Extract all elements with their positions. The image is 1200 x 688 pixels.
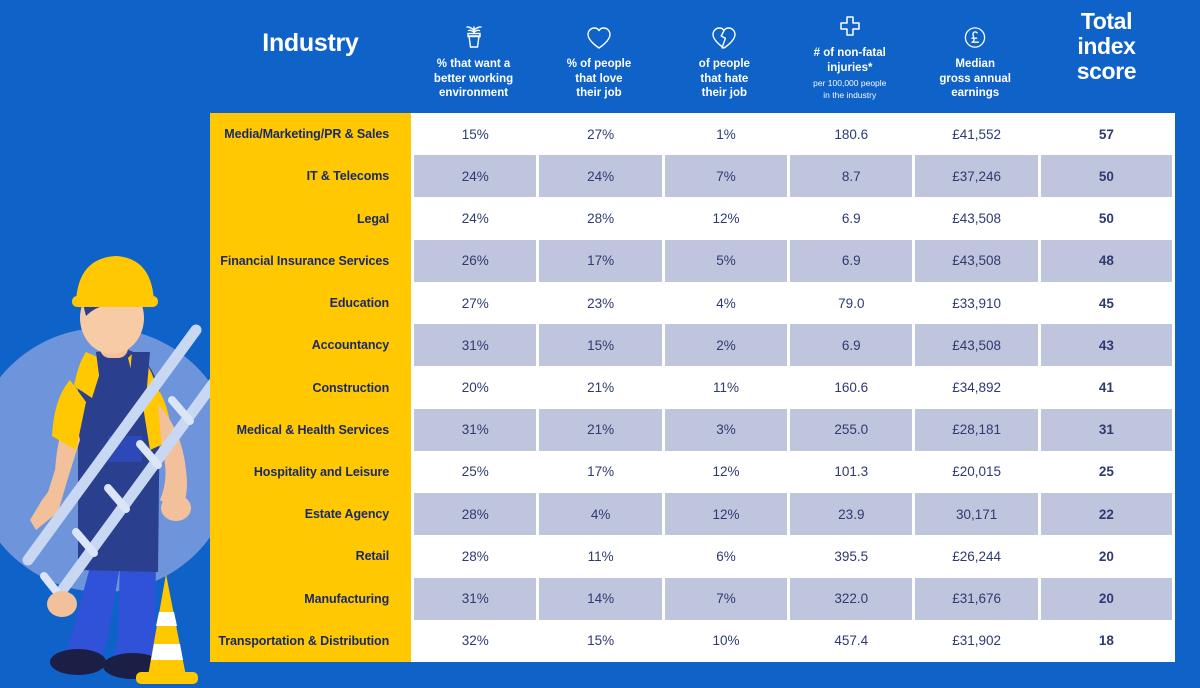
cell-better-env: 31%	[411, 324, 536, 366]
cell-total-index-score: 22	[1038, 493, 1175, 535]
header-sublabel-line1: per 100,000 people	[813, 78, 886, 89]
cell-earnings: £26,244	[912, 535, 1037, 577]
cell-hate: 10%	[662, 620, 787, 662]
cell-industry-name: Medical & Health Services	[210, 409, 411, 451]
cell-love: 21%	[536, 366, 661, 408]
cell-injuries: 79.0	[787, 282, 912, 324]
table-row: Financial Insurance Services26%17%5%6.9£…	[210, 240, 1175, 282]
header-label-line3: environment	[439, 86, 508, 101]
cell-love: 11%	[536, 535, 661, 577]
cell-injuries: 23.9	[787, 493, 912, 535]
cell-industry-name: Education	[210, 282, 411, 324]
header-cell-love-job: % of people that love their job	[536, 0, 661, 113]
header-cell-hate-job: of people that hate their job	[662, 0, 787, 113]
header-cell-non-fatal-injuries: # of non-fatal injuries* per 100,000 peo…	[787, 0, 912, 113]
cell-total-index-score: 31	[1038, 409, 1175, 451]
header-label-line2: that hate	[700, 72, 748, 87]
header-industry-label: Industry	[262, 30, 358, 58]
cell-total-index-score: 20	[1038, 578, 1175, 620]
potted-plant-icon	[461, 21, 487, 51]
pound-coin-icon	[962, 21, 988, 51]
cell-total-index-score: 45	[1038, 282, 1175, 324]
cell-better-env: 31%	[411, 409, 536, 451]
header-total-line3: score	[1077, 59, 1136, 84]
cell-total-index-score: 18	[1038, 620, 1175, 662]
cell-hate: 12%	[662, 493, 787, 535]
cell-hate: 3%	[662, 409, 787, 451]
cell-industry-name: Financial Insurance Services	[210, 240, 411, 282]
table-row: Construction20%21%11%160.6£34,89241	[210, 366, 1175, 408]
cell-earnings: £43,508	[912, 240, 1037, 282]
cell-love: 4%	[536, 493, 661, 535]
cell-earnings: £33,910	[912, 282, 1037, 324]
header-total-line1: Total	[1081, 9, 1132, 34]
cell-industry-name: IT & Telecoms	[210, 155, 411, 197]
cell-better-env: 26%	[411, 240, 536, 282]
table-row: Transportation & Distribution32%15%10%45…	[210, 620, 1175, 662]
cell-industry-name: Estate Agency	[210, 493, 411, 535]
cell-earnings: £34,892	[912, 366, 1037, 408]
construction-worker-illustration	[0, 0, 210, 688]
cell-love: 28%	[536, 197, 661, 239]
header-label-line1: % of people	[567, 57, 632, 72]
cell-injuries: 6.9	[787, 324, 912, 366]
table-row: IT & Telecoms24%24%7%8.7£37,24650	[210, 155, 1175, 197]
cell-injuries: 6.9	[787, 240, 912, 282]
cell-love: 15%	[536, 324, 661, 366]
cell-total-index-score: 50	[1038, 155, 1175, 197]
cell-hate: 7%	[662, 155, 787, 197]
cell-love: 24%	[536, 155, 661, 197]
cell-love: 23%	[536, 282, 661, 324]
cell-love: 27%	[536, 113, 661, 155]
table-row: Accountancy31%15%2%6.9£43,50843	[210, 324, 1175, 366]
cell-total-index-score: 25	[1038, 451, 1175, 493]
header-label-line3: their job	[702, 86, 747, 101]
header-label-line2: better working	[434, 72, 513, 87]
table-body: Media/Marketing/PR & Sales15%27%1%180.6£…	[210, 113, 1175, 662]
cell-industry-name: Construction	[210, 366, 411, 408]
cell-love: 15%	[536, 620, 661, 662]
cell-hate: 6%	[662, 535, 787, 577]
header-label-line1: # of non-fatal	[814, 46, 886, 61]
cell-injuries: 457.4	[787, 620, 912, 662]
header-label-line3: earnings	[951, 86, 999, 101]
table-row: Estate Agency28%4%12%23.930,17122	[210, 493, 1175, 535]
cell-better-env: 31%	[411, 578, 536, 620]
cell-earnings: £43,508	[912, 197, 1037, 239]
header-label-line3: their job	[576, 86, 621, 101]
cell-total-index-score: 57	[1038, 113, 1175, 155]
cell-earnings: £43,508	[912, 324, 1037, 366]
cell-better-env: 25%	[411, 451, 536, 493]
cell-earnings: £41,552	[912, 113, 1037, 155]
cell-industry-name: Transportation & Distribution	[210, 620, 411, 662]
header-label-line1: Median	[955, 57, 995, 72]
header-sublabel-line2: in the industry	[823, 90, 876, 101]
header-label-line2: gross annual	[939, 72, 1011, 87]
header-label-line2: that love	[575, 72, 622, 87]
cell-better-env: 28%	[411, 493, 536, 535]
table-row: Media/Marketing/PR & Sales15%27%1%180.6£…	[210, 113, 1175, 155]
header-label-line1: % that want a	[437, 57, 510, 72]
cell-hate: 4%	[662, 282, 787, 324]
header-cell-better-environment: % that want a better working environment	[411, 0, 536, 113]
header-label-line2: injuries*	[827, 61, 872, 76]
industry-index-table: Industry % that want a better w	[210, 0, 1175, 688]
cell-earnings: £37,246	[912, 155, 1037, 197]
table-row: Manufacturing31%14%7%322.0£31,67620	[210, 578, 1175, 620]
cell-hate: 11%	[662, 366, 787, 408]
cell-industry-name: Media/Marketing/PR & Sales	[210, 113, 411, 155]
cell-injuries: 395.5	[787, 535, 912, 577]
table-row: Medical & Health Services31%21%3%255.0£2…	[210, 409, 1175, 451]
table-header-row: Industry % that want a better w	[210, 0, 1175, 113]
cell-hate: 1%	[662, 113, 787, 155]
header-cell-industry: Industry	[210, 0, 411, 113]
cell-industry-name: Retail	[210, 535, 411, 577]
header-total-line2: index	[1077, 34, 1135, 59]
infographic-page: Industry % that want a better w	[0, 0, 1200, 688]
cell-total-index-score: 43	[1038, 324, 1175, 366]
table-row: Legal24%28%12%6.9£43,50850	[210, 197, 1175, 239]
cell-hate: 5%	[662, 240, 787, 282]
cell-injuries: 8.7	[787, 155, 912, 197]
cell-total-index-score: 48	[1038, 240, 1175, 282]
heart-icon	[585, 21, 613, 51]
cell-better-env: 27%	[411, 282, 536, 324]
cell-total-index-score: 41	[1038, 366, 1175, 408]
cell-earnings: £20,015	[912, 451, 1037, 493]
cell-better-env: 32%	[411, 620, 536, 662]
cell-injuries: 6.9	[787, 197, 912, 239]
cell-industry-name: Legal	[210, 197, 411, 239]
table-row: Retail28%11%6%395.5£26,24420	[210, 535, 1175, 577]
cell-injuries: 160.6	[787, 366, 912, 408]
cell-injuries: 180.6	[787, 113, 912, 155]
cell-injuries: 322.0	[787, 578, 912, 620]
cell-earnings: £28,181	[912, 409, 1037, 451]
cell-hate: 7%	[662, 578, 787, 620]
cell-earnings: £31,902	[912, 620, 1037, 662]
cell-hate: 12%	[662, 451, 787, 493]
cell-better-env: 28%	[411, 535, 536, 577]
medical-cross-icon	[837, 10, 863, 40]
cell-earnings: £31,676	[912, 578, 1037, 620]
cell-love: 17%	[536, 451, 661, 493]
cell-industry-name: Accountancy	[210, 324, 411, 366]
cell-love: 21%	[536, 409, 661, 451]
cell-better-env: 15%	[411, 113, 536, 155]
cell-love: 17%	[536, 240, 661, 282]
cell-total-index-score: 20	[1038, 535, 1175, 577]
table-row: Education27%23%4%79.0£33,91045	[210, 282, 1175, 324]
broken-heart-icon	[710, 21, 738, 51]
header-cell-total-index-score: Total index score	[1038, 0, 1175, 113]
table-row: Hospitality and Leisure25%17%12%101.3£20…	[210, 451, 1175, 493]
cell-injuries: 255.0	[787, 409, 912, 451]
cell-better-env: 20%	[411, 366, 536, 408]
header-cell-median-earnings: Median gross annual earnings	[912, 0, 1037, 113]
cell-industry-name: Manufacturing	[210, 578, 411, 620]
cell-earnings: 30,171	[912, 493, 1037, 535]
cell-injuries: 101.3	[787, 451, 912, 493]
cell-industry-name: Hospitality and Leisure	[210, 451, 411, 493]
cell-love: 14%	[536, 578, 661, 620]
cell-hate: 2%	[662, 324, 787, 366]
cell-better-env: 24%	[411, 155, 536, 197]
cell-total-index-score: 50	[1038, 197, 1175, 239]
header-label-line1: of people	[699, 57, 750, 72]
cell-hate: 12%	[662, 197, 787, 239]
cell-better-env: 24%	[411, 197, 536, 239]
